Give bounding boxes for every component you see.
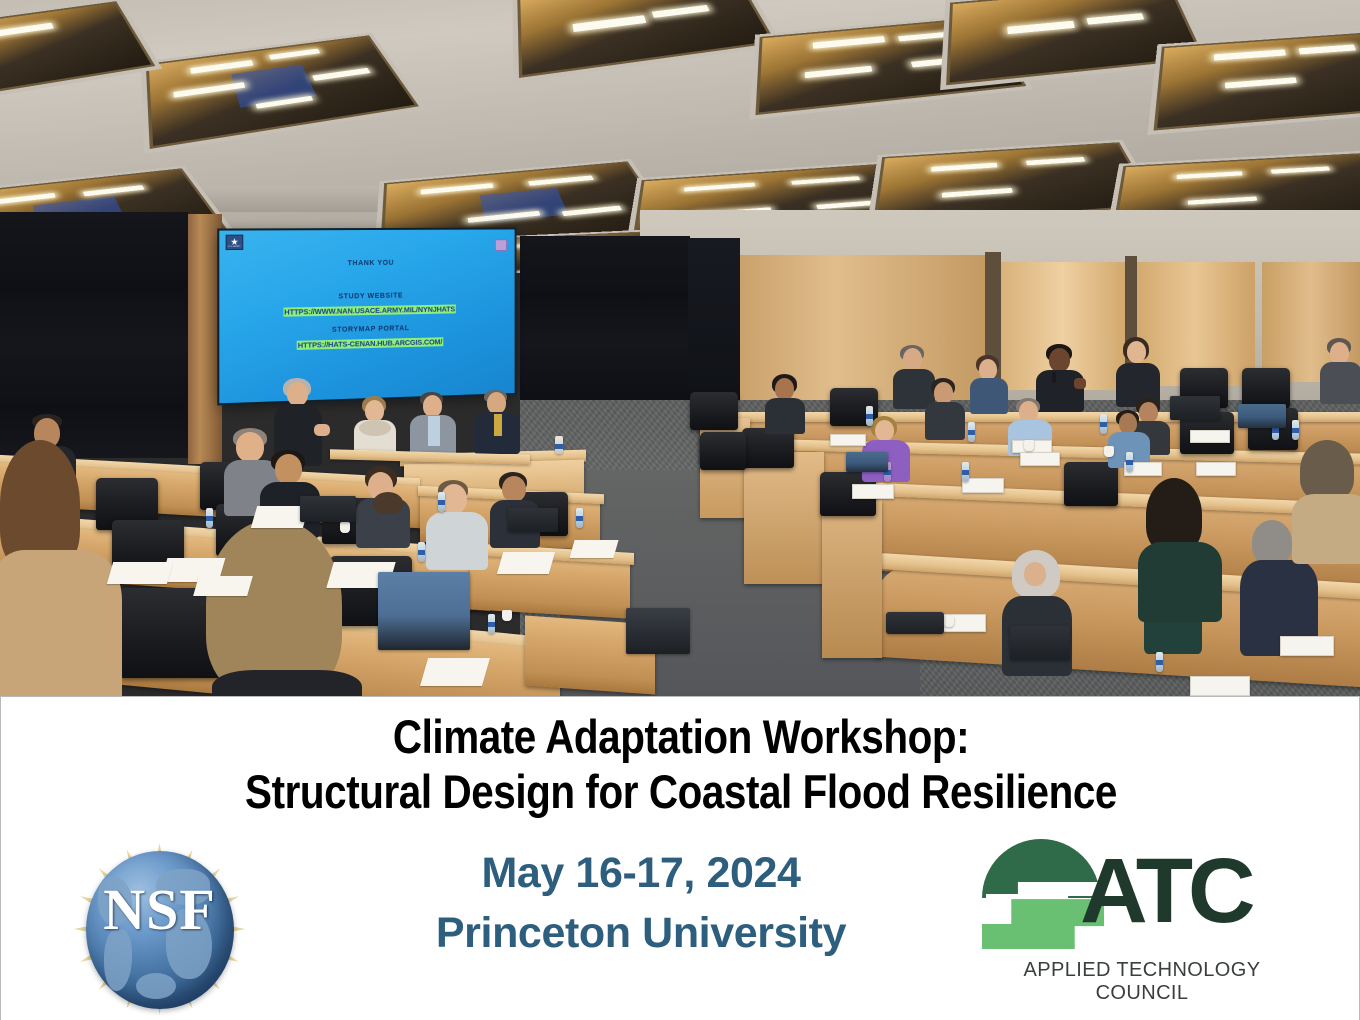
water-bottle (576, 508, 583, 528)
paper-handout (107, 562, 173, 584)
star-icon: ★ (230, 237, 238, 245)
title-line-2: Structural Design for Coastal Flood Resi… (96, 764, 1266, 820)
slide-thank-you: THANK YOU (219, 259, 514, 269)
tumbler (555, 436, 563, 454)
microphone-icon (1052, 372, 1056, 383)
water-bottle (1292, 420, 1299, 440)
water-bottle (1126, 452, 1133, 472)
slide-storymap-url: HTTPS://HATS-CENAN.HUB.ARCGIS.COM/ (219, 336, 514, 352)
paper-handout (497, 552, 555, 574)
coffee-cup (1024, 440, 1034, 451)
acoustic-panel (0, 212, 188, 350)
water-bottle (866, 406, 873, 426)
water-bottle (488, 614, 495, 634)
laptop (300, 496, 356, 522)
name-placard (830, 434, 866, 446)
slide-storymap-url-text: HTTPS://HATS-CENAN.HUB.ARCGIS.COM/ (297, 337, 444, 350)
desk-end-panel (744, 452, 824, 584)
army-logo-icon: ★ U.S.ARMY (226, 235, 244, 250)
water-bottle (1100, 414, 1107, 434)
laptop (1010, 626, 1070, 660)
chair (1064, 462, 1118, 506)
chair (1242, 368, 1290, 408)
banner-title: Climate Adaptation Workshop: Structural … (1, 710, 1360, 820)
event-location: Princeton University (331, 903, 951, 963)
nsf-logo: NSF (57, 837, 262, 1020)
name-placard (1020, 452, 1060, 466)
water-bottle (418, 542, 425, 562)
flyer-banner: Climate Adaptation Workshop: Structural … (0, 696, 1360, 1020)
paper-handout (569, 540, 618, 558)
laptop (626, 608, 690, 654)
chair (700, 432, 746, 470)
coffee-cup (502, 610, 512, 621)
title-line-1: Climate Adaptation Workshop: (96, 710, 1266, 764)
slide-study-url: HTTPS://WWW.NAN.USACE.ARMY.MIL/NYNJHATS (219, 303, 514, 318)
name-placard (1190, 430, 1230, 443)
logo-row: NSF May 16-17, 2024 Princeton University… (1, 827, 1360, 1020)
water-bottle (438, 492, 445, 512)
slide-storymap-label: STORYMAP PORTAL (219, 323, 514, 337)
tablet (886, 612, 944, 634)
atc-subtitle: APPLIED TECHNOLOGY COUNCIL (978, 959, 1306, 1005)
water-bottle (1156, 652, 1163, 672)
laptop (508, 508, 558, 532)
atc-wordmark: ATC (1080, 831, 1251, 951)
projection-screen: ★ U.S.ARMY THANK YOU STUDY WEBSITE HTTPS… (219, 229, 514, 403)
coffee-cup (1104, 446, 1114, 457)
water-bottle (968, 422, 975, 442)
event-dates: May 16-17, 2024 (331, 843, 951, 903)
name-placard (1196, 462, 1236, 476)
slide-study-label: STUDY WEBSITE (219, 291, 514, 303)
atc-logo: ATC APPLIED TECHNOLOGY COUNCIL (976, 835, 1306, 995)
paper-handout (420, 658, 490, 686)
scarf (359, 420, 391, 436)
laptop (1238, 404, 1286, 428)
paper-handout (193, 576, 253, 596)
coffee-cup (944, 616, 954, 627)
slide-study-url-text: HTTPS://WWW.NAN.USACE.ARMY.MIL/NYNJHATS (283, 304, 456, 316)
chair (690, 392, 738, 430)
laptop (846, 452, 888, 472)
nsf-wordmark: NSF (57, 881, 262, 939)
army-logo-caption: U.S.ARMY (228, 245, 241, 247)
laptop (1170, 396, 1220, 420)
name-placard (1190, 676, 1250, 696)
acoustic-panel (520, 236, 690, 346)
event-details: May 16-17, 2024 Princeton University (331, 843, 951, 963)
name-placard (1280, 636, 1334, 656)
acoustic-panel (688, 238, 740, 418)
chair (742, 428, 794, 468)
wood-column (188, 214, 222, 464)
water-bottle (962, 462, 969, 482)
ceiling-coffer (1154, 31, 1360, 131)
flyer-page: ★ U.S.ARMY THANK YOU STUDY WEBSITE HTTPS… (0, 0, 1360, 1020)
coffee-cup (340, 522, 350, 533)
conference-room-photo: ★ U.S.ARMY THANK YOU STUDY WEBSITE HTTPS… (0, 0, 1360, 697)
laptop (378, 572, 470, 650)
water-bottle (206, 508, 213, 528)
slide-corner-logo (495, 239, 507, 251)
name-placard (852, 484, 894, 499)
desk-end-panel (822, 500, 882, 658)
